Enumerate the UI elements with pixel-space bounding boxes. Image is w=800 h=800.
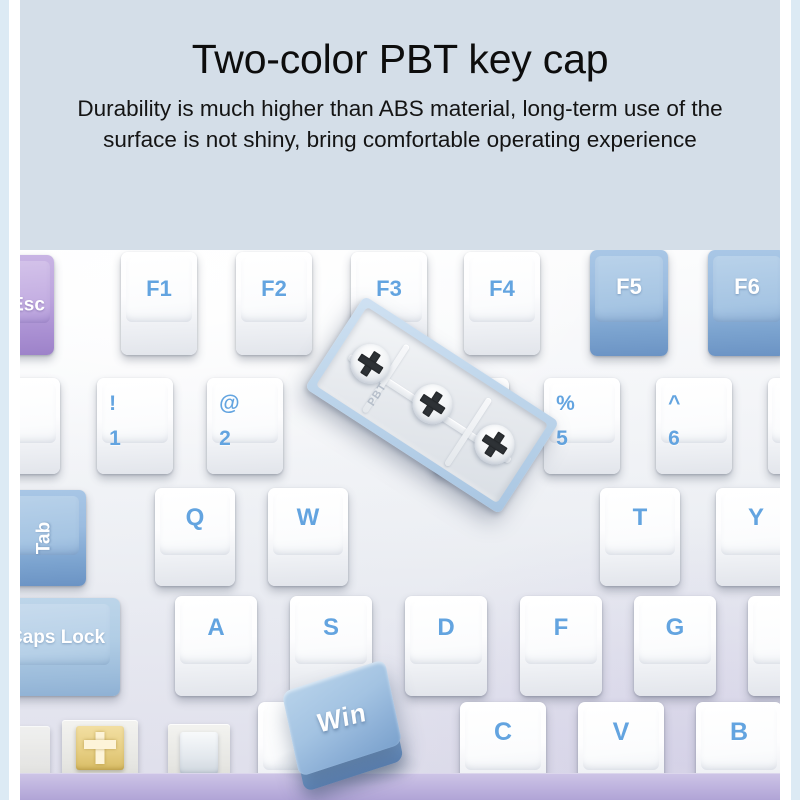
key-label: Esc (20, 296, 54, 315)
key-label: 6 (668, 428, 680, 449)
key-label: F5 (590, 276, 668, 298)
subtitle-line-2: surface is not shiny, bring comfortable … (24, 124, 776, 155)
key-q: Q (155, 488, 235, 586)
key-1: ! 1 (97, 378, 173, 474)
keycap-top-surface (20, 384, 56, 444)
key-label: Caps Lock (20, 628, 120, 647)
product-feature-image: Two-color PBT key cap Durability is much… (0, 0, 800, 800)
key-label: F4 (464, 278, 540, 300)
clear-stabilizer-stem (180, 732, 218, 774)
key-esc: Esc (20, 255, 54, 355)
key-label: Win (288, 690, 396, 747)
key-label: W (268, 506, 348, 530)
key-label: 1 (109, 428, 121, 449)
key-label: B (696, 720, 780, 745)
key-f1: F1 (121, 252, 197, 355)
key-a: A (175, 596, 257, 696)
key-7 (768, 378, 780, 474)
frame-inner-left (9, 0, 20, 800)
key-label: 2 (219, 428, 231, 449)
key-h (748, 596, 780, 696)
key-f: F (520, 596, 602, 696)
header-subtitle: Durability is much higher than ABS mater… (24, 93, 776, 155)
key-f4: F4 (464, 252, 540, 355)
frame-border-right (791, 0, 800, 800)
key-label: G (634, 616, 716, 640)
key-label-shifted: % (556, 393, 575, 414)
header-banner: Two-color PBT key cap Durability is much… (20, 0, 780, 250)
key-d: D (405, 596, 487, 696)
key-w: W (268, 488, 348, 586)
key-label: 5 (556, 428, 568, 449)
key-6: ^ 6 (656, 378, 732, 474)
key-label: Tab (35, 522, 54, 554)
key-tilde (20, 378, 60, 474)
keycap-mold-text: PBT (366, 381, 390, 409)
subtitle-line-1: Durability is much higher than ABS mater… (24, 93, 776, 124)
keycap-top-surface (753, 602, 780, 664)
key-label: Y (716, 506, 780, 530)
key-tab: Tab (20, 490, 86, 586)
key-f2: F2 (236, 252, 312, 355)
key-t: T (600, 488, 680, 586)
key-2: @ 2 (207, 378, 283, 474)
frame-border-left (0, 0, 9, 800)
key-label: F6 (708, 276, 780, 298)
key-label: F3 (351, 278, 427, 300)
key-label: F2 (236, 278, 312, 300)
key-label-shifted: ^ (668, 393, 680, 414)
stem-cross-horizontal (84, 740, 116, 749)
key-label: Q (155, 506, 235, 530)
key-label-shifted: ! (109, 393, 116, 414)
frame-inner-right (780, 0, 791, 800)
key-label: S (290, 616, 372, 640)
key-label: F (520, 616, 602, 640)
key-f6: F6 (708, 250, 780, 356)
key-y: Y (716, 488, 780, 586)
key-f5: F5 (590, 250, 668, 356)
keycap-top-surface (772, 384, 780, 444)
key-label: C (460, 720, 546, 745)
page-title: Two-color PBT key cap (192, 36, 609, 83)
key-label: V (578, 720, 664, 745)
keyboard-photo: Esc F1 F2 F3 F4 F5 F6 (20, 250, 780, 800)
key-g: G (634, 596, 716, 696)
key-caps-lock: Caps Lock (20, 598, 120, 696)
key-label: A (175, 616, 257, 640)
key-label: T (600, 506, 680, 530)
key-label: D (405, 616, 487, 640)
key-label: F1 (121, 278, 197, 300)
yellow-switch-stem (76, 726, 124, 770)
key-label-shifted: @ (219, 393, 239, 414)
